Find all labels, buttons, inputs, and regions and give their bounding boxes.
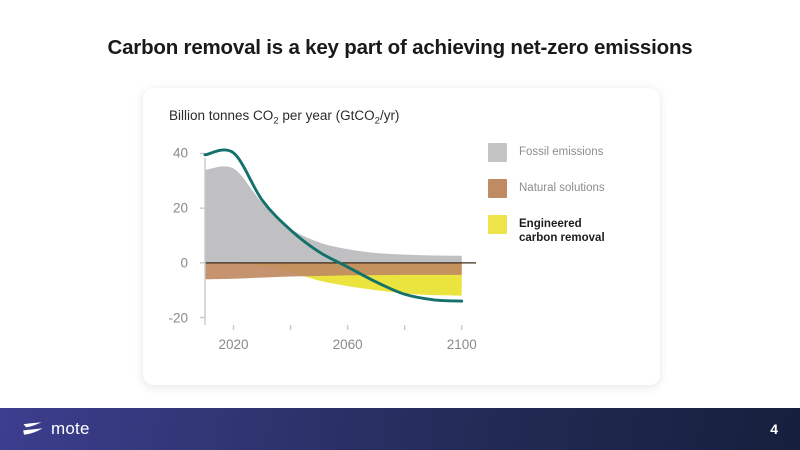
- legend-item: Engineeredcarbon removal: [488, 215, 648, 246]
- brand-name: mote: [51, 419, 90, 439]
- legend-swatch: [488, 143, 507, 162]
- legend-swatch: [488, 179, 507, 198]
- page-title: Carbon removal is a key part of achievin…: [0, 36, 800, 60]
- x-tick-label: 2100: [447, 337, 477, 352]
- y-tick-label: 40: [148, 146, 188, 161]
- brand-logo: mote: [22, 419, 90, 439]
- y-tick-label: -20: [148, 310, 188, 325]
- legend-label: Natural solutions: [519, 179, 605, 195]
- y-tick-label: 20: [148, 201, 188, 216]
- x-tick-label: 2060: [333, 337, 363, 352]
- legend-item: Fossil emissions: [488, 143, 648, 162]
- mote-leaf-icon: [22, 421, 44, 437]
- legend-label: Fossil emissions: [519, 143, 603, 159]
- chart-legend: Fossil emissionsNatural solutionsEnginee…: [488, 143, 648, 263]
- legend-label-line2: carbon removal: [519, 232, 605, 244]
- x-tick-label: 2020: [218, 337, 248, 352]
- legend-item: Natural solutions: [488, 179, 648, 198]
- legend-swatch: [488, 215, 507, 234]
- y-tick-label: 0: [148, 255, 188, 270]
- page-number: 4: [770, 421, 778, 437]
- chart-card: Billion tonnes CO2 per year (GtCO2/yr) 4…: [143, 88, 660, 385]
- slide-footer: mote 4: [0, 408, 800, 450]
- legend-label: Engineeredcarbon removal: [519, 215, 605, 246]
